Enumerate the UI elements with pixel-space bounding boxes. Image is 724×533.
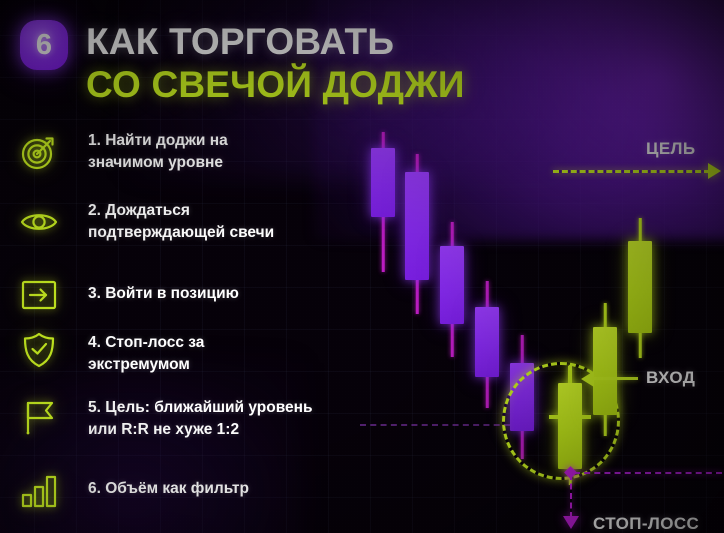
step-label-5: 5. Цель: ближайший уровень или R:R не ху… [88, 397, 313, 441]
page-title-line-2: СО СВЕЧОЙ ДОДЖИ [86, 64, 465, 106]
target-icon [17, 130, 61, 174]
stop-loss-dashed-line [570, 474, 572, 518]
level-line-faint [360, 424, 510, 426]
step-label-1: 1. Найти доджи на значимом уровне [88, 130, 228, 174]
target-label: ЦЕЛЬ [646, 139, 696, 159]
header: 6 КАК ТОРГОВАТЬ СО СВЕЧОЙ ДОДЖИ [0, 0, 724, 120]
step-label-4: 4. Стоп-лосс за экстремумом [88, 332, 204, 376]
enter-arrow-icon [17, 273, 61, 317]
candle-down-1 [371, 132, 395, 272]
candle-down-3 [440, 222, 464, 357]
candle-down-2 [405, 154, 429, 314]
candle-down-4 [475, 281, 499, 408]
step-label-3: 3. Войти в позицию [88, 283, 239, 305]
stop-loss-arrow-head-icon [563, 516, 579, 529]
entry-label: ВХОД [646, 368, 695, 388]
bar-chart-icon [17, 468, 61, 512]
stop-loss-level-line [574, 472, 722, 474]
candle-up-2 [593, 303, 617, 436]
step-label-6: 6. Объём как фильтр [88, 478, 249, 500]
target-arrow-head-icon [708, 163, 721, 179]
infographic-canvas: 6 КАК ТОРГОВАТЬ СО СВЕЧОЙ ДОДЖИ 1. Найти… [0, 0, 724, 533]
candlestick-chart: ЦЕЛЬ ВХОД СТОП-ЛОСС [330, 118, 724, 533]
entry-arrow-head-icon [581, 371, 594, 387]
step-label-2: 2. Дождаться подтверждающей свечи [88, 200, 274, 244]
badge-number-label: 6 [36, 31, 52, 60]
shield-check-icon [17, 328, 61, 372]
page-title-line-1: КАК ТОРГОВАТЬ [86, 21, 394, 63]
stop-loss-label: СТОП-ЛОСС [593, 514, 699, 533]
step-number-badge: 6 [20, 20, 68, 70]
target-dashed-line [553, 170, 710, 173]
candle-up-3 [628, 218, 652, 358]
flag-icon [17, 396, 61, 440]
eye-icon [17, 200, 61, 244]
entry-line [594, 377, 638, 380]
steps-list: 1. Найти доджи на значимом уровне 2. Дож… [0, 128, 340, 528]
